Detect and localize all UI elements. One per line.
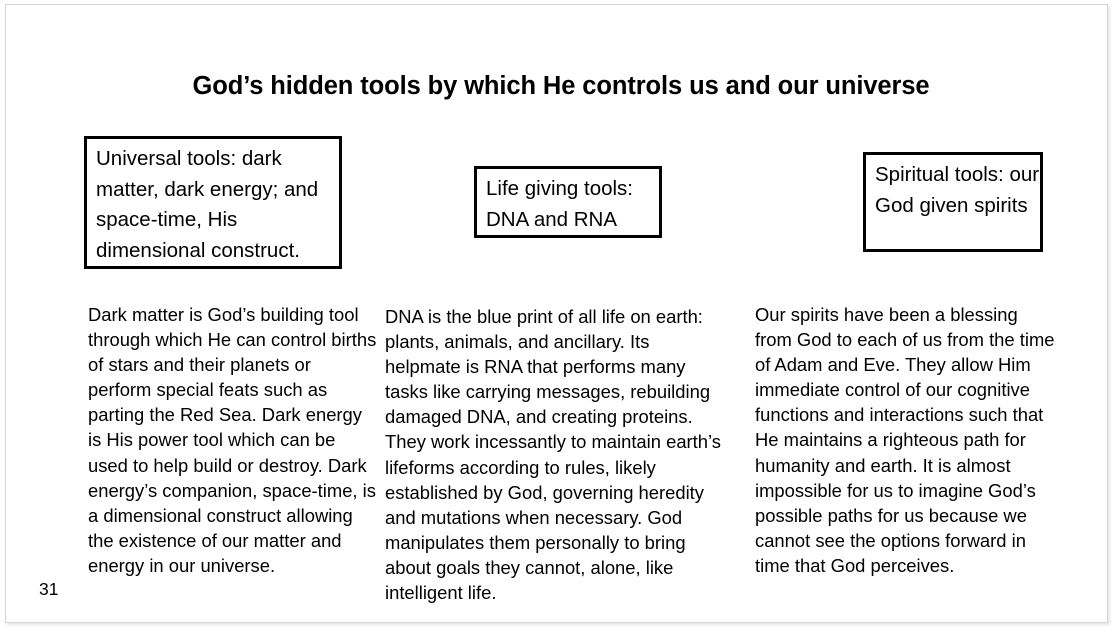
heading-box-life-giving-tools: Life giving tools: DNA and RNA [474, 166, 662, 238]
body-text-universal-tools: Dark matter is God’s building tool throu… [88, 302, 378, 578]
body-text-spiritual-tools: Our spirits have been a blessing from Go… [755, 302, 1055, 578]
slide-page-number: 31 [39, 579, 58, 600]
page-title: God’s hidden tools by which He controls … [76, 72, 1046, 101]
body-text-life-giving-tools: DNA is the blue print of all life on ear… [385, 304, 730, 605]
heading-box-universal-tools: Universal tools: dark matter, dark energ… [84, 136, 342, 269]
slide-canvas: God’s hidden tools by which He controls … [5, 4, 1108, 623]
heading-box-spiritual-tools: Spiritual tools: our God given spirits [863, 152, 1043, 252]
